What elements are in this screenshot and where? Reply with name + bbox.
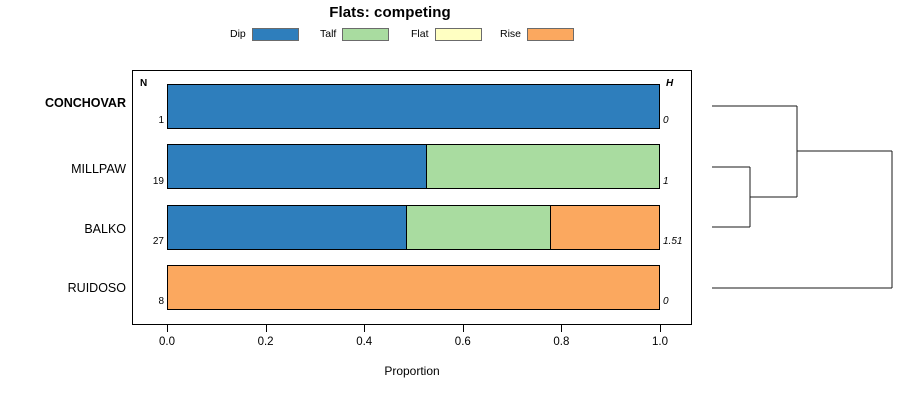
bar-millpaw[interactable] <box>167 144 660 189</box>
row-label-balko: BALKO <box>0 222 126 236</box>
bar-conchovar[interactable] <box>167 84 660 129</box>
x-tick-1.0 <box>660 325 661 332</box>
h-value-conchovar: 0 <box>663 115 697 126</box>
x-tick-label-0.0: 0.0 <box>147 336 187 348</box>
bar-balko[interactable] <box>167 205 660 250</box>
row-label-ruidoso: RUIDOSO <box>0 281 126 295</box>
legend-label-dip: Dip <box>230 29 246 40</box>
legend-swatch-talf <box>342 28 389 41</box>
legend-swatch-dip <box>252 28 299 41</box>
legend: DipTalfFlatRise <box>0 25 780 43</box>
x-tick-label-0.8: 0.8 <box>541 336 581 348</box>
legend-item-dip[interactable]: Dip <box>230 25 299 43</box>
bar-segment-ruidoso-rise[interactable] <box>168 266 659 309</box>
bar-segment-millpaw-dip[interactable] <box>168 145 426 188</box>
row-label-conchovar: CONCHOVAR <box>0 96 126 110</box>
legend-item-rise[interactable]: Rise <box>500 25 574 43</box>
n-value-balko: 27 <box>136 236 164 247</box>
bar-segment-millpaw-talf[interactable] <box>426 145 659 188</box>
legend-label-talf: Talf <box>320 29 336 40</box>
x-tick-label-0.6: 0.6 <box>443 336 483 348</box>
n-value-ruidoso: 8 <box>136 296 164 307</box>
x-tick-0.8 <box>561 325 562 332</box>
bar-segment-balko-dip[interactable] <box>168 206 406 249</box>
h-value-balko: 1.51 <box>663 236 697 247</box>
x-tick-label-1.0: 1.0 <box>640 336 680 348</box>
legend-swatch-rise <box>527 28 574 41</box>
x-tick-label-0.4: 0.4 <box>344 336 384 348</box>
bar-segment-conchovar-dip[interactable] <box>168 85 659 128</box>
chart-canvas: Flats: competing DipTalfFlatRise CONCHOV… <box>0 0 900 400</box>
x-tick-0.6 <box>463 325 464 332</box>
h-value-millpaw: 1 <box>663 176 697 187</box>
bar-segment-balko-rise[interactable] <box>550 206 659 249</box>
legend-item-talf[interactable]: Talf <box>320 25 389 43</box>
x-tick-0.0 <box>167 325 168 332</box>
bar-ruidoso[interactable] <box>167 265 660 310</box>
dendrogram <box>700 70 900 325</box>
legend-swatch-flat <box>435 28 482 41</box>
h-value-ruidoso: 0 <box>663 296 697 307</box>
legend-label-flat: Flat <box>411 29 429 40</box>
legend-item-flat[interactable]: Flat <box>411 25 482 43</box>
x-tick-0.2 <box>266 325 267 332</box>
n-value-millpaw: 19 <box>136 176 164 187</box>
chart-title: Flats: competing <box>0 4 780 21</box>
x-tick-0.4 <box>364 325 365 332</box>
x-axis-title: Proportion <box>132 364 692 378</box>
n-column-header: N <box>140 78 147 89</box>
h-column-header: H <box>666 78 673 89</box>
dendrogram-svg <box>700 70 900 325</box>
row-label-millpaw: MILLPAW <box>0 162 126 176</box>
bar-segment-balko-talf[interactable] <box>406 206 550 249</box>
n-value-conchovar: 1 <box>136 115 164 126</box>
x-tick-label-0.2: 0.2 <box>246 336 286 348</box>
legend-label-rise: Rise <box>500 29 521 40</box>
